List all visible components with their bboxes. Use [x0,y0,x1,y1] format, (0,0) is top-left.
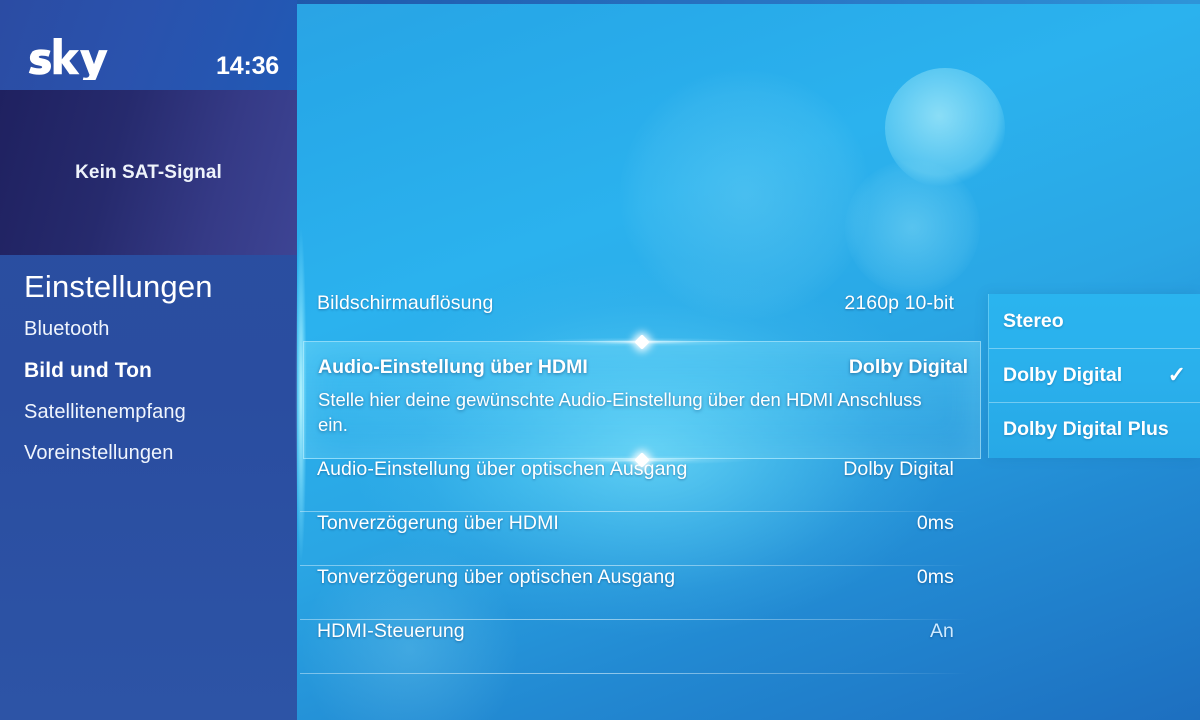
sidebar-item-label: Bild und Ton [24,359,152,382]
sidebar-item-label: Satellitenempfang [24,401,186,423]
option-label: Dolby Digital Plus [1003,418,1169,441]
settings-row-label: Tonverzögerung über HDMI [317,512,559,535]
settings-row-tonverzoegerung-optisch[interactable]: Tonverzögerung über optischen Ausgang 0m… [300,566,968,620]
sidebar-header: 14:36 [0,0,297,90]
sidebar: 14:36 Kein SAT-Signal Einstellungen Blue… [0,0,297,720]
sidebar-item-label: Voreinstellungen [24,442,174,464]
sidebar-item-satellitenempfang[interactable]: Satellitenempfang [0,392,297,433]
settings-row-label: Bildschirmauflösung [317,292,493,315]
settings-row-label: Audio-Einstellung über optischen Ausgang [317,458,687,481]
settings-row-value: Dolby Digital [843,458,954,481]
page-title: Einstellungen [0,255,297,309]
check-icon: ✓ [1168,364,1186,386]
settings-row-value: 2160p 10-bit [844,292,954,315]
sidebar-item-voreinstellungen[interactable]: Voreinstellungen [0,433,297,474]
settings-row-tonverzoegerung-hdmi[interactable]: Tonverzögerung über HDMI 0ms [300,512,968,566]
clock: 14:36 [216,52,279,81]
settings-row-audio-optisch[interactable]: Audio-Einstellung über optischen Ausgang… [300,458,968,512]
settings-row-value: 0ms [917,566,954,589]
audio-options-panel: Stereo ✓ Dolby Digital ✓ Dolby Digital P… [988,294,1200,458]
settings-row-hdmi-steuerung[interactable]: HDMI-Steuerung An [300,620,968,674]
settings-row-label: Tonverzögerung über optischen Ausgang [317,566,675,589]
sky-settings-screen: 14:36 Kein SAT-Signal Einstellungen Blue… [0,0,1200,720]
sidebar-item-bild-und-ton[interactable]: Bild und Ton [0,350,297,392]
option-label: Stereo [1003,310,1064,333]
option-dolby-digital[interactable]: Dolby Digital ✓ [989,348,1200,402]
settings-row-audio-hdmi-selected[interactable]: Audio-Einstellung über HDMI Dolby Digita… [303,341,981,459]
selected-row-description: Stelle hier deine gewünschte Audio-Einst… [304,379,980,437]
option-stereo[interactable]: Stereo ✓ [989,294,1200,348]
sidebar-menu: Einstellungen Bluetooth Bild und Ton Sat… [0,255,297,474]
sidebar-item-label: Bluetooth [24,318,109,340]
selected-row-label: Audio-Einstellung über HDMI [318,356,588,379]
signal-status-panel: Kein SAT-Signal [0,90,297,255]
signal-status-label: Kein SAT-Signal [75,162,222,184]
option-dolby-digital-plus[interactable]: Dolby Digital Plus ✓ [989,402,1200,456]
settings-row-bildschirmaufloesung[interactable]: Bildschirmauflösung 2160p 10-bit [300,292,968,338]
sky-logo-icon [28,36,112,80]
selected-row-value: Dolby Digital [849,356,968,379]
option-label: Dolby Digital [1003,364,1122,387]
settings-row-label: HDMI-Steuerung [317,620,465,643]
sidebar-item-bluetooth[interactable]: Bluetooth [0,309,297,350]
settings-row-value: An [930,620,954,643]
settings-row-value: 0ms [917,512,954,535]
